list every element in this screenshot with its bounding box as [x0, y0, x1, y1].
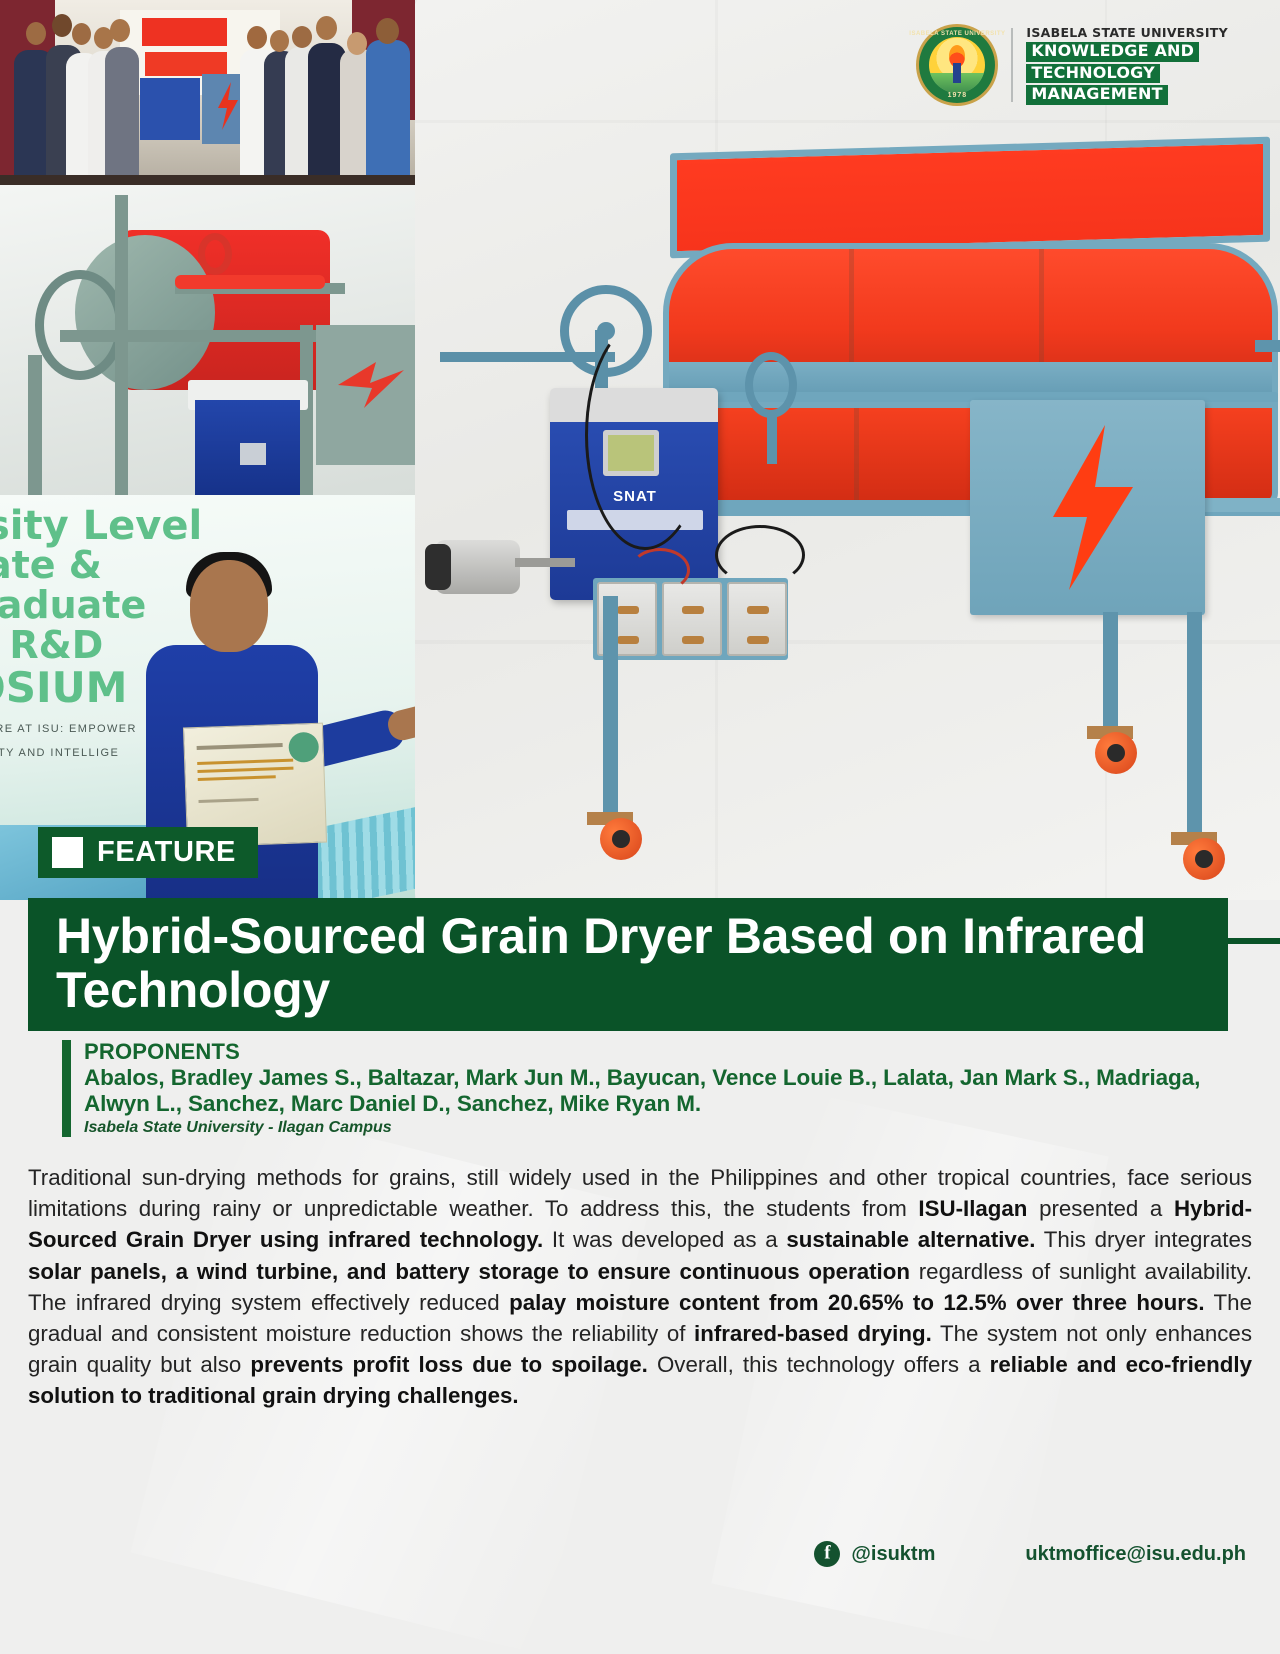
- org-unit-line-3: MANAGEMENT: [1026, 85, 1167, 105]
- article-text: This dryer integrates: [1035, 1227, 1252, 1252]
- footer-contact: @isuktm uktmoffice@isu.edu.ph: [0, 1524, 1280, 1584]
- proponents-names: Abalos, Bradley James S., Baltazar, Mark…: [84, 1065, 1242, 1118]
- article-emphasis: sustainable alternative.: [786, 1227, 1035, 1252]
- dryer-lid: [670, 137, 1270, 259]
- article-text: presented a: [1027, 1196, 1174, 1221]
- banner-line-4: t R&D: [0, 623, 103, 667]
- battery-unit: [662, 582, 722, 656]
- torch-icon: [953, 63, 961, 83]
- article-emphasis: palay moisture content from 20.65% to 12…: [509, 1290, 1204, 1315]
- email-address[interactable]: uktmoffice@isu.edu.ph: [1025, 1543, 1246, 1566]
- facebook-icon[interactable]: [814, 1541, 840, 1567]
- isu-seal-icon: ISABELA STATE UNIVERSITY 1978: [916, 24, 998, 106]
- proponents-accent-bar: [62, 1040, 71, 1137]
- article-text: It was developed as a: [543, 1227, 786, 1252]
- banner-line-3: raduate: [0, 583, 146, 627]
- org-unit-line-1: KNOWLEDGE AND: [1026, 42, 1199, 62]
- proponents-campus: Isabela State University - Ilagan Campus: [84, 1119, 1242, 1137]
- article-emphasis: solar panels, a wind turbine, and batter…: [28, 1259, 910, 1284]
- proponents-heading: PROPONENTS: [84, 1040, 1242, 1065]
- university-logo-header: ISABELA STATE UNIVERSITY 1978 ISABELA ST…: [916, 24, 1228, 106]
- title-banner-tail: [1228, 938, 1280, 944]
- caster-wheel: [600, 818, 642, 860]
- caster-wheel: [1095, 732, 1137, 774]
- article-emphasis: infrared-based drying.: [694, 1321, 932, 1346]
- lifting-hoop: [745, 352, 797, 418]
- lightning-bolt-icon: [1035, 425, 1145, 590]
- hero-photo-grain-dryer: SNAT: [415, 0, 1280, 900]
- photo-collage-area: SNAT: [0, 0, 1280, 900]
- logo-divider: [1011, 28, 1013, 102]
- page-title: Hybrid-Sourced Grain Dryer Based on Infr…: [56, 910, 1228, 1017]
- dryer-drum-upper: [663, 243, 1278, 368]
- banner-line-6: URE AT ISU: EMPOWER: [0, 723, 137, 735]
- feature-square-icon: [52, 837, 83, 868]
- article-emphasis: prevents profit loss due to spoilage.: [250, 1352, 647, 1377]
- caster-wheel: [1183, 838, 1225, 880]
- article-text: Overall, this technology offers a: [648, 1352, 990, 1377]
- facebook-handle[interactable]: @isuktm: [851, 1543, 935, 1566]
- proponents-block: PROPONENTS Abalos, Bradley James S., Bal…: [62, 1040, 1242, 1137]
- feature-badge: FEATURE: [38, 827, 258, 878]
- title-banner: Hybrid-Sourced Grain Dryer Based on Infr…: [28, 898, 1228, 1031]
- seal-year: 1978: [948, 92, 968, 99]
- article-emphasis: ISU-Ilagan: [918, 1196, 1027, 1221]
- banner-line-2: ate &: [0, 543, 102, 587]
- collage-photo-group: [0, 0, 415, 175]
- facebook-contact[interactable]: @isuktm: [814, 1541, 935, 1567]
- article-body: Traditional sun-drying methods for grain…: [28, 1162, 1252, 1412]
- battery-unit: [727, 582, 787, 656]
- org-unit-line-2: TECHNOLOGY: [1026, 64, 1160, 84]
- banner-line-7: LITY AND INTELLIGE: [0, 747, 119, 759]
- banner-line-5: OSIUM: [0, 663, 127, 712]
- org-name-line: ISABELA STATE UNIVERSITY: [1026, 25, 1228, 40]
- feature-label: FEATURE: [97, 836, 236, 869]
- collage-photo-drum-machine: [0, 175, 415, 495]
- left-photo-collage: sity Level ate & raduate t R&D OSIUM URE…: [0, 0, 415, 900]
